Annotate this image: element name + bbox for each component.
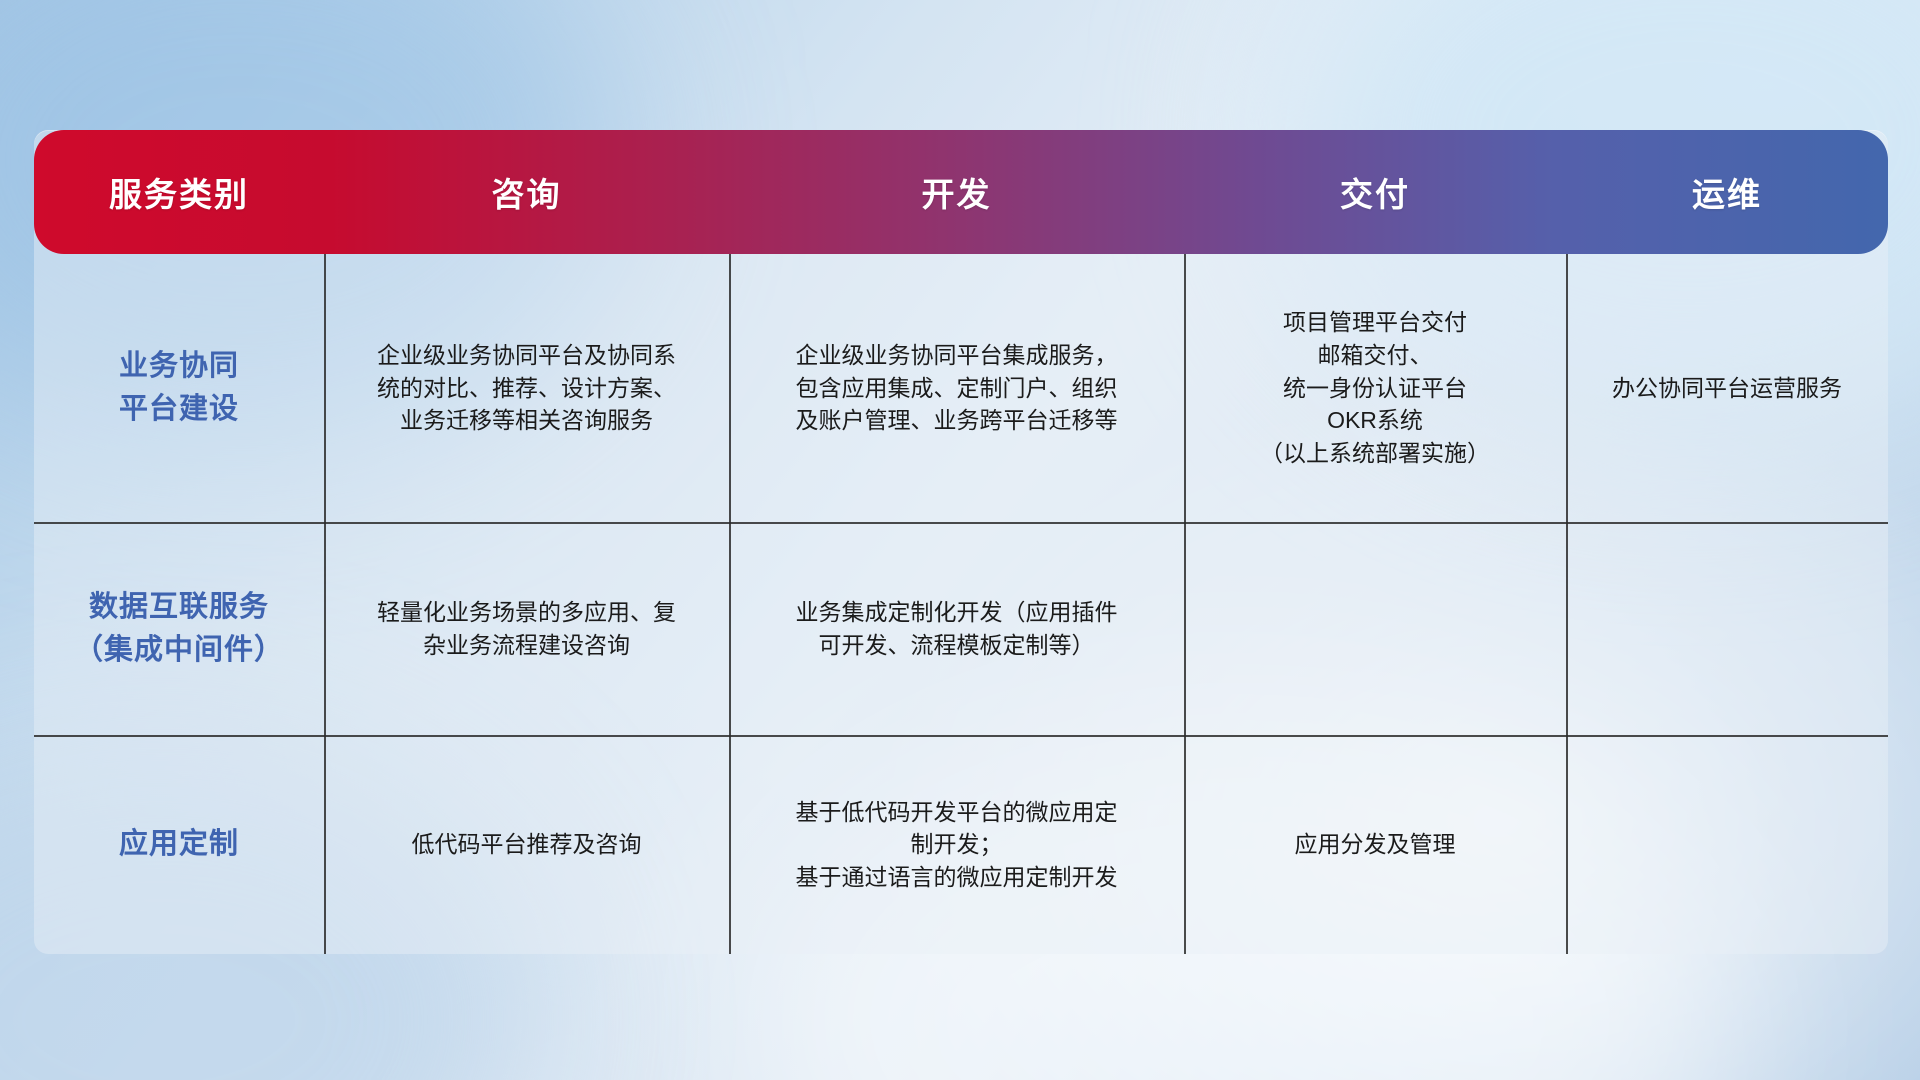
cell-r2-development: 业务集成定制化开发（应用插件 可开发、流程模板定制等） — [729, 522, 1184, 735]
cell-r1-consulting: 企业级业务协同平台及协同系 统的对比、推荐、设计方案、 业务迁移等相关咨询服务 — [324, 254, 729, 522]
cell-r2-consulting: 轻量化业务场景的多应用、复 杂业务流程建设咨询 — [324, 522, 729, 735]
cell-r1-development: 企业级业务协同平台集成服务， 包含应用集成、定制门户、组织 及账户管理、业务跨平… — [729, 254, 1184, 522]
table-row: 业务协同 平台建设 企业级业务协同平台及协同系 统的对比、推荐、设计方案、 业务… — [34, 254, 1888, 522]
cell-r3-consulting: 低代码平台推荐及咨询 — [324, 735, 729, 954]
table-row: 应用定制 低代码平台推荐及咨询 基于低代码开发平台的微应用定 制开发； 基于通过… — [34, 735, 1888, 954]
table-body: 业务协同 平台建设 企业级业务协同平台及协同系 统的对比、推荐、设计方案、 业务… — [34, 254, 1888, 954]
cell-r1-delivery: 项目管理平台交付 邮箱交付、 统一身份认证平台 OKR系统 （以上系统部署实施） — [1184, 254, 1566, 522]
column-header-development: 开发 — [729, 130, 1184, 254]
column-header-operations: 运维 — [1566, 130, 1888, 254]
cell-r3-delivery: 应用分发及管理 — [1184, 735, 1566, 954]
row-label-data-interconnect: 数据互联服务 （集成中间件） — [34, 522, 324, 735]
service-matrix-table: 服务类别 咨询 开发 交付 运维 业务协同 平台建设 企业级业务协同平台及协同系… — [34, 130, 1888, 954]
cell-r2-operations — [1566, 522, 1888, 735]
cell-r2-delivery — [1184, 522, 1566, 735]
cell-r3-development: 基于低代码开发平台的微应用定 制开发； 基于通过语言的微应用定制开发 — [729, 735, 1184, 954]
column-header-consulting: 咨询 — [324, 130, 729, 254]
page-canvas: 服务类别 咨询 开发 交付 运维 业务协同 平台建设 企业级业务协同平台及协同系… — [0, 0, 1920, 1080]
row-label-app-customization: 应用定制 — [34, 735, 324, 954]
column-header-service-category: 服务类别 — [34, 130, 324, 254]
table-header-row: 服务类别 咨询 开发 交付 运维 — [34, 130, 1888, 254]
cell-r1-operations: 办公协同平台运营服务 — [1566, 254, 1888, 522]
column-header-delivery: 交付 — [1184, 130, 1566, 254]
cell-r3-operations — [1566, 735, 1888, 954]
row-label-business-collaboration: 业务协同 平台建设 — [34, 254, 324, 522]
table-row: 数据互联服务 （集成中间件） 轻量化业务场景的多应用、复 杂业务流程建设咨询 业… — [34, 522, 1888, 735]
